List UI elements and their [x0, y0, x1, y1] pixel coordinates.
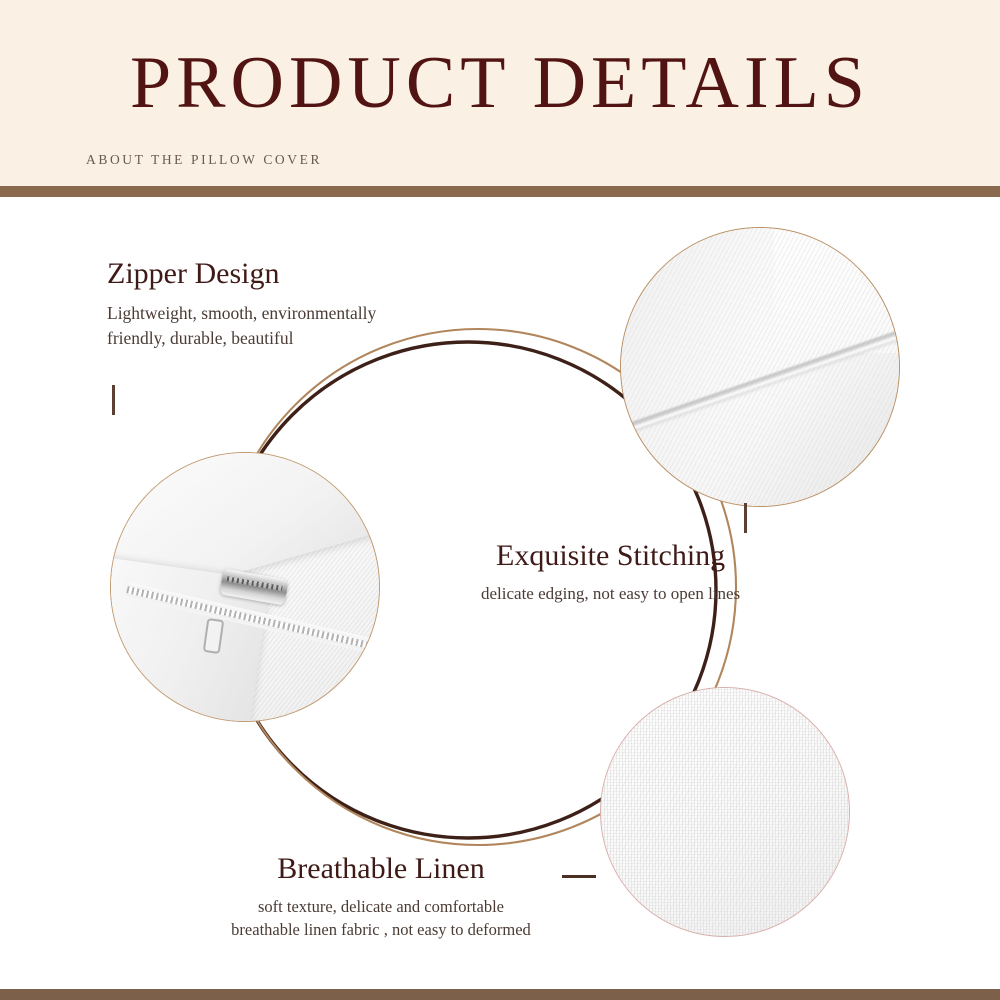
linen-description-line1: soft texture, delicate and comfortable	[186, 895, 576, 918]
stitching-shade-right	[732, 353, 899, 506]
zipper-description-line1: Lightweight, smooth, environmentally	[107, 301, 376, 326]
page-subtitle: ABOUT THE PILLOW COVER	[86, 152, 322, 168]
page-header: PRODUCT DETAILS ABOUT THE PILLOW COVER	[0, 0, 1000, 186]
feature-block-zipper: Zipper Design Lightweight, smooth, envir…	[107, 257, 376, 351]
zipper-tick-mark	[112, 385, 115, 415]
zipper-title: Zipper Design	[107, 257, 376, 290]
page-title: PRODUCT DETAILS	[0, 46, 1000, 120]
stitching-title: Exquisite Stitching	[481, 539, 740, 572]
stitching-description-line1: delicate edging, not easy to open lines	[481, 582, 740, 606]
footer-divider-bar	[0, 989, 1000, 1000]
zipper-description: Lightweight, smooth, environmentally fri…	[107, 301, 376, 351]
zipper-photo	[110, 452, 380, 722]
stitching-fabric-texture	[621, 228, 899, 506]
linen-fabric-texture	[601, 688, 849, 936]
zipper-description-line2: friendly, durable, beautiful	[107, 326, 376, 351]
content-stage: Zipper Design Lightweight, smooth, envir…	[0, 197, 1000, 989]
feature-block-linen: Breathable Linen soft texture, delicate …	[186, 852, 576, 942]
header-divider-bar	[0, 186, 1000, 197]
stitching-description: delicate edging, not easy to open lines	[481, 582, 740, 606]
linen-title: Breathable Linen	[186, 852, 576, 885]
linen-description: soft texture, delicate and comfortable b…	[186, 895, 576, 942]
linen-description-line2: breathable linen fabric , not easy to de…	[186, 918, 576, 941]
feature-block-stitching: Exquisite Stitching delicate edging, not…	[481, 539, 740, 606]
linen-photo	[600, 687, 850, 937]
stitching-photo	[620, 227, 900, 507]
zipper-fabric-texture	[111, 453, 379, 721]
stitching-tick-mark	[744, 503, 747, 533]
